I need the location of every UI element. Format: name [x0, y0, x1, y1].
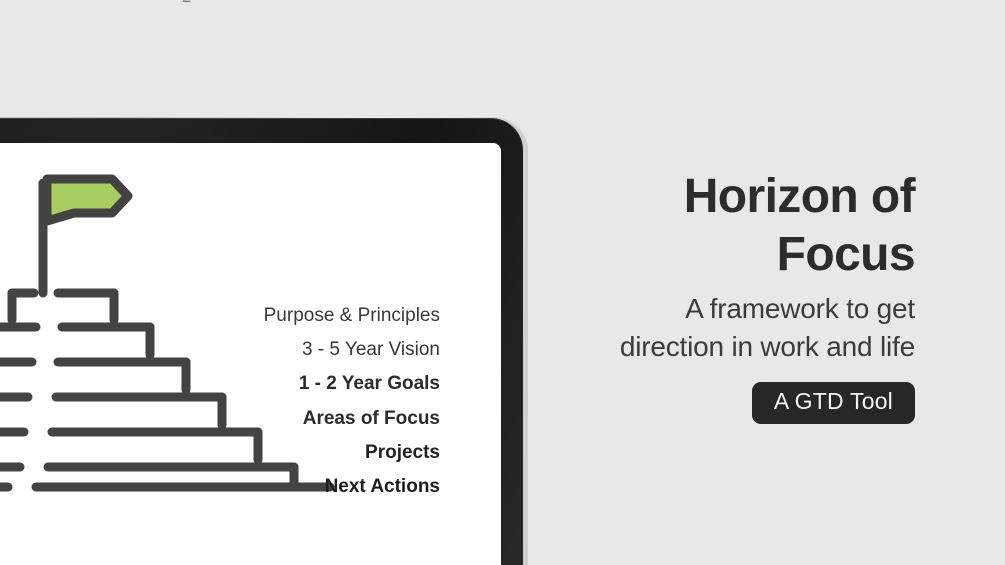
slide-canvas: 2 [0, 0, 1005, 565]
page-subtitle: A framework to get direction in work and… [585, 290, 915, 366]
badge-row: A GTD Tool [585, 382, 915, 424]
level-label-purpose-principles: Purpose & Principles [264, 305, 440, 327]
level-label-3-5-year-vision: 3 - 5 Year Vision [302, 339, 440, 361]
status-badge: A GTD Tool [752, 382, 915, 424]
level-label-projects: Projects [365, 442, 440, 464]
level-label-next-actions: Next Actions [325, 476, 440, 498]
level-label-areas-of-focus: Areas of Focus [303, 408, 440, 430]
level-label-1-2-year-goals: 1 - 2 Year Goals [299, 373, 440, 395]
text-panel: Horizon of Focus A framework to get dire… [585, 168, 915, 424]
stray-mark: 2 [182, 0, 192, 8]
tablet-device-mockup: 5 4 3 2 1 0 Purpose & Principles 3 - 5 Y… [0, 117, 528, 565]
device-screen: 5 4 3 2 1 0 Purpose & Principles 3 - 5 Y… [0, 143, 501, 565]
flag-banner [47, 179, 128, 221]
page-title: Horizon of Focus [585, 168, 915, 284]
horizon-of-focus-pyramid: 5 4 3 2 1 0 Purpose & Principles 3 - 5 Y… [0, 165, 466, 495]
